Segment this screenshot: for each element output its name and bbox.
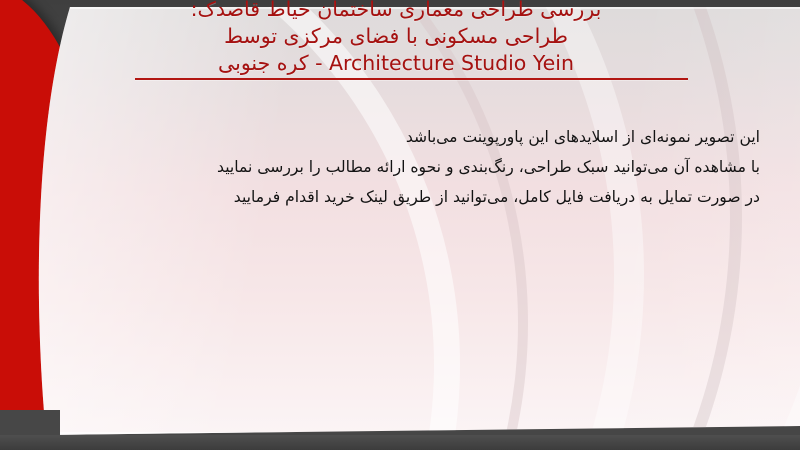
slide-title: بررسی طراحی معماری ساختمان حیاط قاصدک: ط…: [0, 0, 800, 77]
presentation-slide: بررسی طراحی معماری ساختمان حیاط قاصدک: ط…: [0, 0, 800, 450]
frame-bottom-band: [0, 435, 800, 450]
slide-title-line-3: Architecture Studio Yein - کره جنوبی: [110, 50, 682, 77]
slide-body-text: این تصویر نمونه‌ای از اسلایدهای این پاور…: [60, 122, 760, 212]
body-text-line-2: با مشاهده آن می‌توانید سبک طراحی، رنگ‌بن…: [60, 152, 760, 182]
slide-content: بررسی طراحی معماری ساختمان حیاط قاصدک: ط…: [0, 0, 800, 450]
title-divider-rule: [135, 78, 688, 80]
slide-title-line-1: بررسی طراحی معماری ساختمان حیاط قاصدک:: [110, 0, 682, 23]
slide-title-line-2: طراحی مسکونی با فضای مرکزی توسط: [110, 23, 682, 50]
body-text-line-3: در صورت تمایل به دریافت فایل کامل، می‌تو…: [60, 182, 760, 212]
body-text-line-1: این تصویر نمونه‌ای از اسلایدهای این پاور…: [60, 122, 760, 152]
